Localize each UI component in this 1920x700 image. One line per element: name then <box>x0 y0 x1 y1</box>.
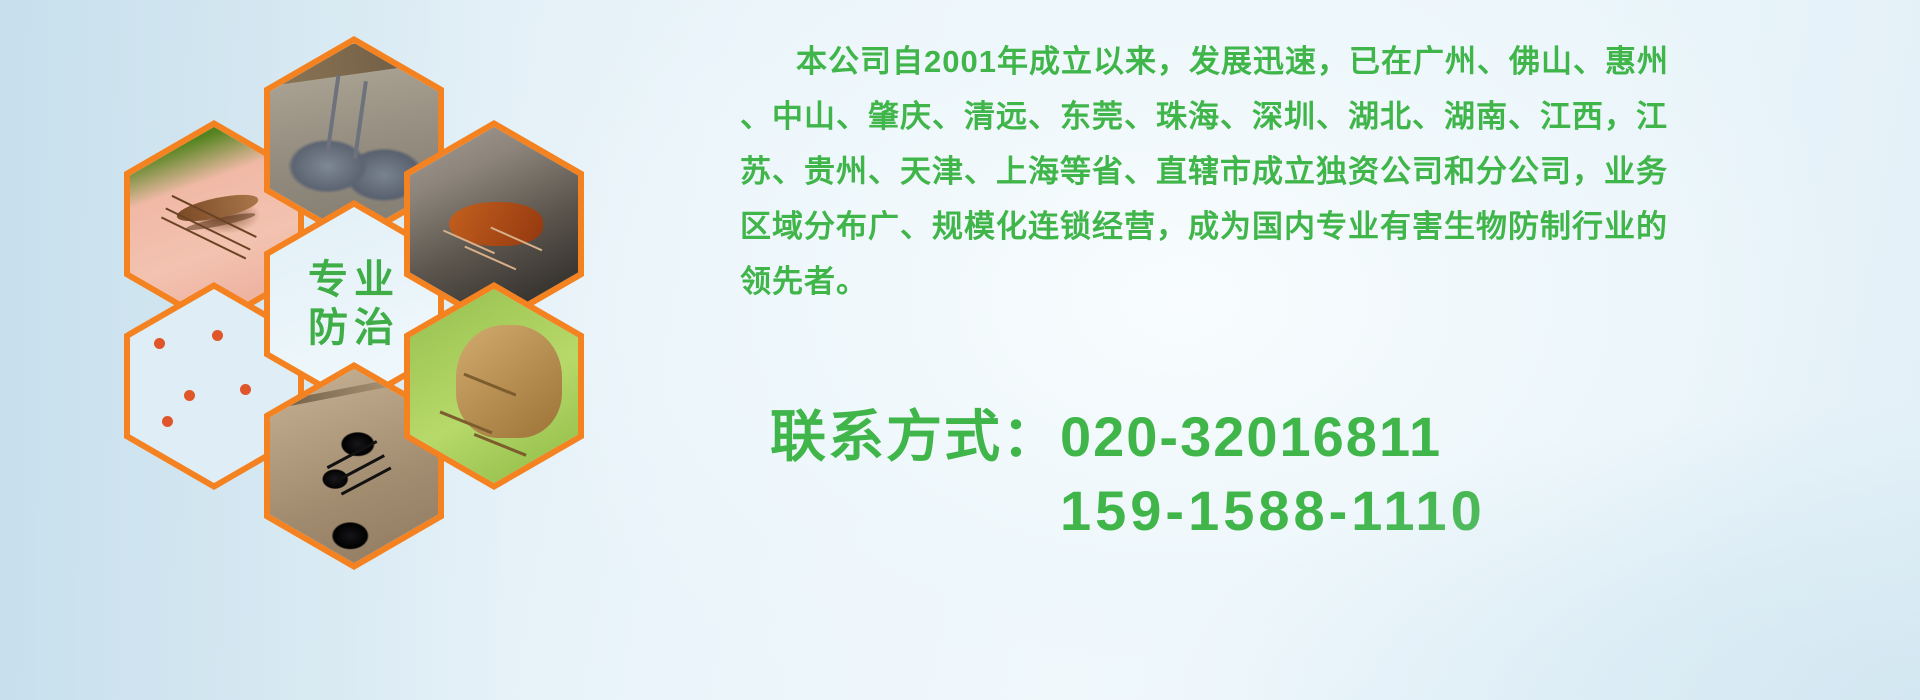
contact-block: 联系方式：020-32016811 159-1588-1110 <box>770 400 1890 548</box>
intro-line: 本公司自2001年成立以来，发展迅速，已在广州、佛山、惠州 <box>740 34 1850 89</box>
honeycomb-collage: 专业 防治 <box>96 6 596 566</box>
intro-line: 苏、贵州、天津、上海等省、直辖市成立独资公司和分公司，业务 <box>740 144 1850 199</box>
intro-line: 领先者。 <box>740 254 1850 309</box>
hex-inner <box>410 289 578 483</box>
intro-line: 、中山、肇庆、清远、东莞、珠海、深圳、湖北、湖南、江西，江 <box>740 89 1850 144</box>
promo-banner: 专业 防治 本公司自2001年成立以来，发展迅速，已在广州、佛山、惠州 、中山 <box>0 0 1920 700</box>
contact-primary-phone[interactable]: 联系方式：020-32016811 <box>770 400 1890 474</box>
slogan-line-1: 专业 <box>308 260 400 300</box>
contact-secondary-phone[interactable]: 159-1588-1110 <box>770 474 1890 548</box>
company-intro-block: 本公司自2001年成立以来，发展迅速，已在广州、佛山、惠州 、中山、肇庆、清远、… <box>740 34 1850 309</box>
slogan-line-2: 防治 <box>308 308 400 348</box>
intro-line: 区域分布广、规模化连锁经营，成为国内专业有害生物防制行业的 <box>740 199 1850 254</box>
intro-paragraph: 本公司自2001年成立以来，发展迅速，已在广州、佛山、惠州 、中山、肇庆、清远、… <box>740 34 1850 309</box>
stink-bug-photo <box>410 289 578 483</box>
